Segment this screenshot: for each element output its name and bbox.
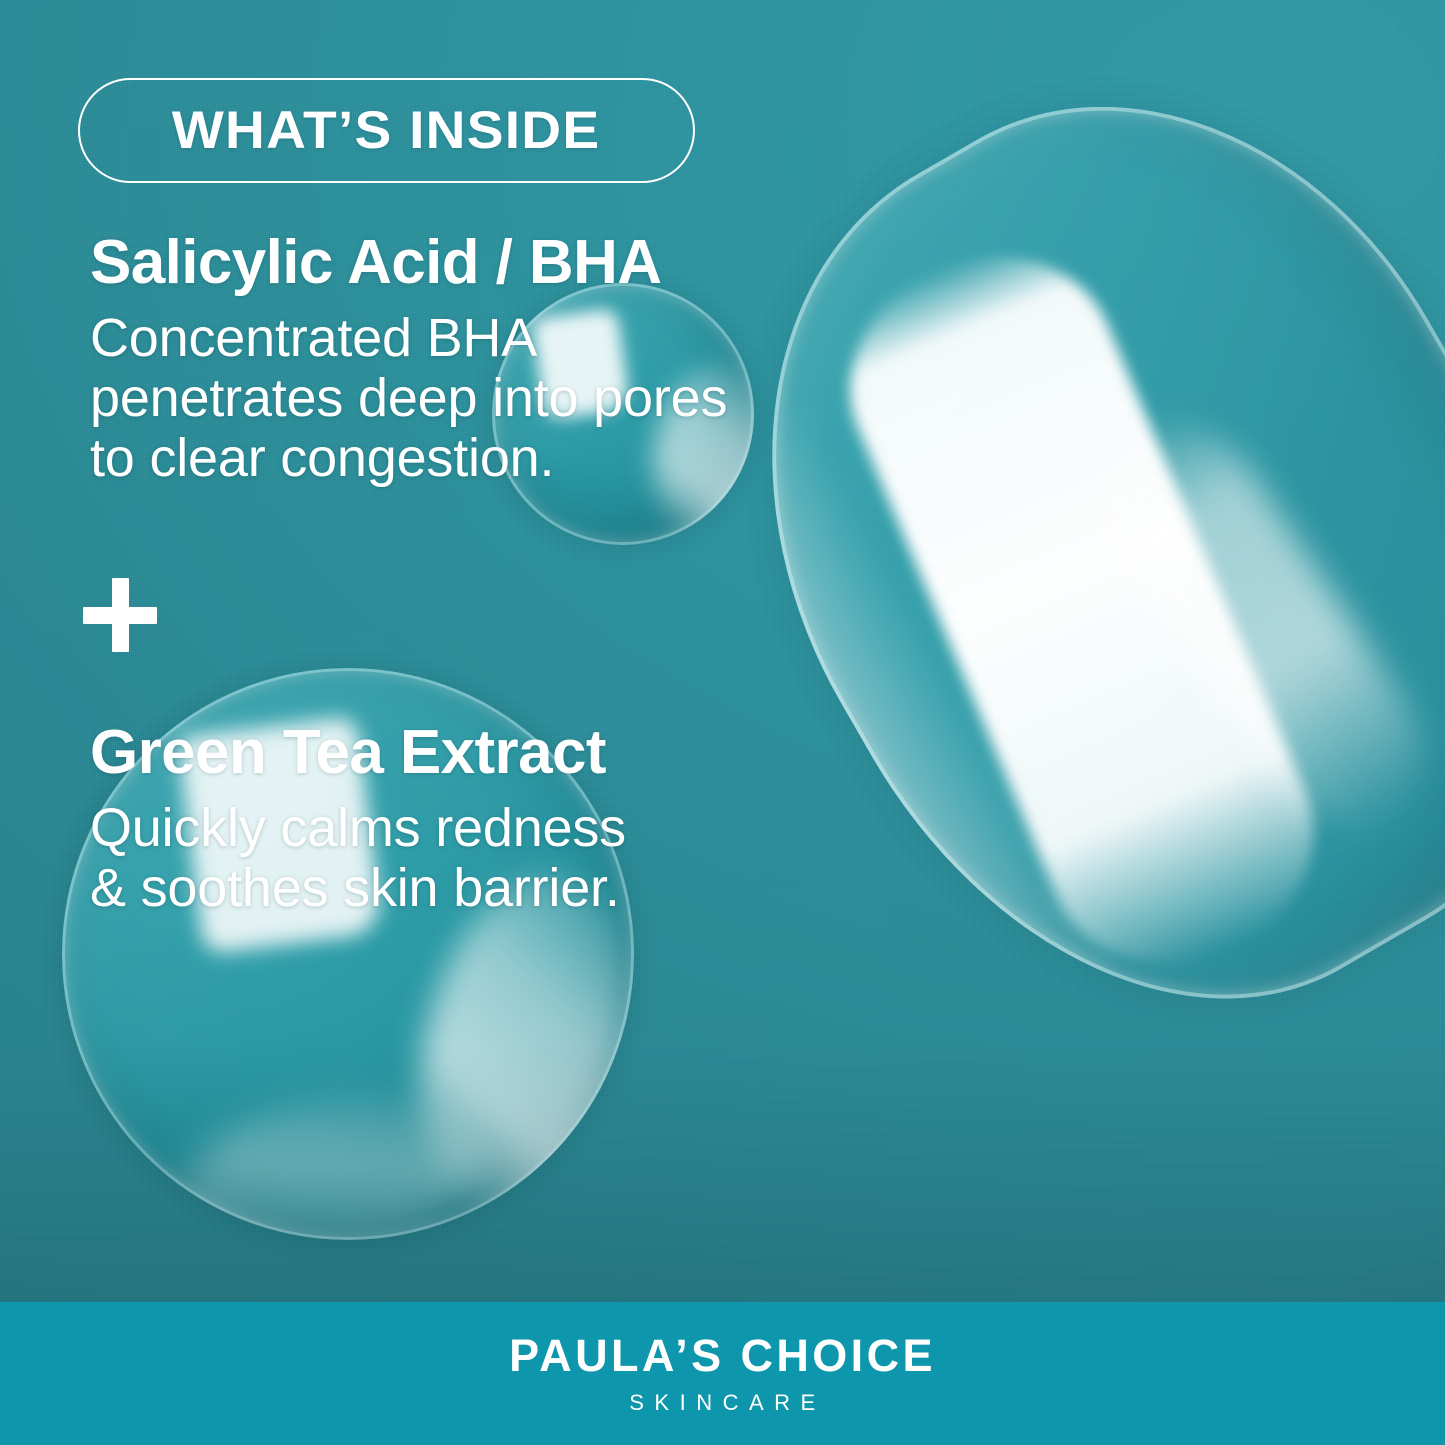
ingredient-block-salicylic-acid: Salicylic Acid / BHA Concentrated BHA pe…	[90, 232, 727, 488]
description-line: penetrates deep into pores	[90, 368, 727, 428]
brand-footer: PAULA’S CHOICE SKINCARE	[0, 1302, 1445, 1445]
plus-icon	[83, 578, 157, 652]
ingredient-description-salicylic-acid: Concentrated BHA penetrates deep into po…	[90, 308, 727, 488]
whats-inside-badge: WHAT’S INSIDE	[78, 78, 695, 183]
ingredient-name-salicylic-acid: Salicylic Acid / BHA	[90, 232, 727, 294]
description-line: Quickly calms redness	[90, 798, 626, 858]
description-line: to clear congestion.	[90, 428, 727, 488]
whats-inside-badge-label: WHAT’S INSIDE	[172, 104, 601, 157]
description-line: Concentrated BHA	[90, 308, 727, 368]
ingredient-block-green-tea-extract: Green Tea Extract Quickly calms redness …	[90, 722, 626, 918]
ingredient-description-green-tea-extract: Quickly calms redness & soothes skin bar…	[90, 798, 626, 918]
content-layer: WHAT’S INSIDE Salicylic Acid / BHA Conce…	[0, 0, 1445, 1445]
description-line: & soothes skin barrier.	[90, 858, 626, 918]
brand-name: PAULA’S CHOICE	[509, 1333, 936, 1378]
brand-tagline: SKINCARE	[619, 1392, 825, 1414]
product-ingredient-card: WHAT’S INSIDE Salicylic Acid / BHA Conce…	[0, 0, 1445, 1445]
ingredient-name-green-tea-extract: Green Tea Extract	[90, 722, 626, 784]
